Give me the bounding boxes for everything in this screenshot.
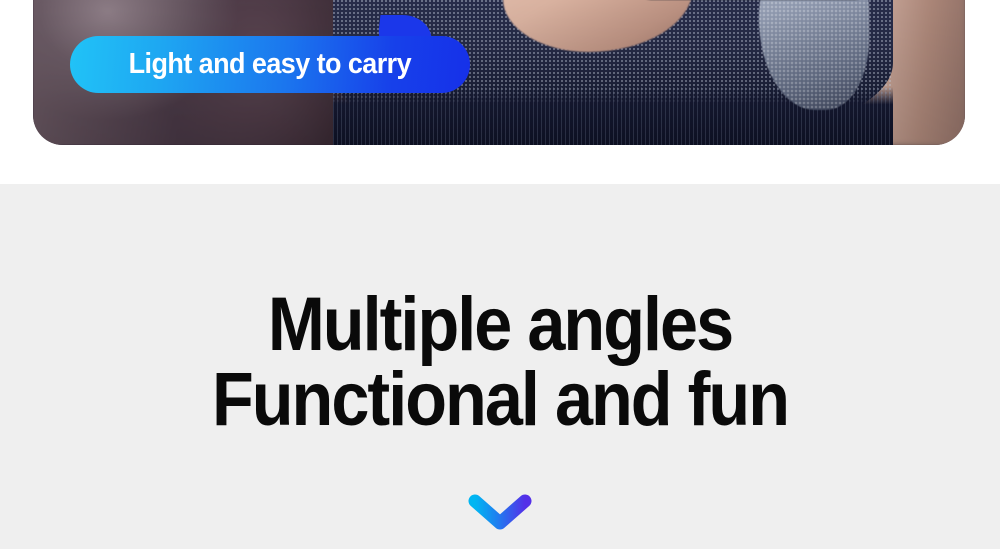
badge-pill: Light and easy to carry — [70, 36, 470, 93]
feature-section: Multiple angles Functional and fun — [0, 184, 1000, 549]
headline-line-2: Functional and fun — [50, 362, 950, 437]
chevron-down-icon[interactable] — [468, 494, 532, 530]
headline-line-1: Multiple angles — [50, 287, 950, 362]
feature-callout-badge: Light and easy to carry — [70, 36, 470, 93]
badge-label: Light and easy to carry — [129, 50, 411, 79]
section-headline: Multiple angles Functional and fun — [0, 287, 1000, 437]
